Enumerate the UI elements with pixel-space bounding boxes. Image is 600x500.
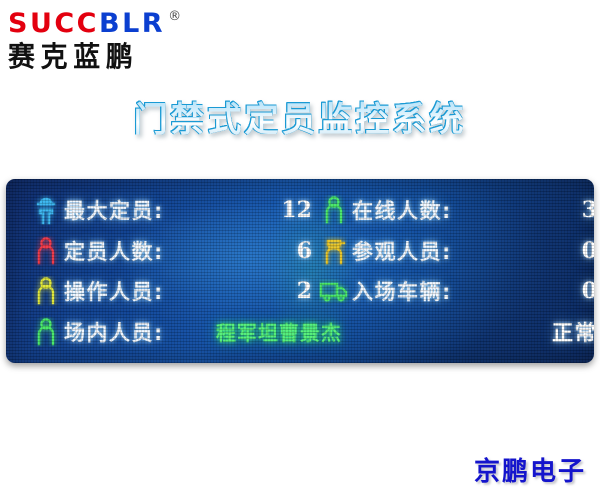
value-text: 3 <box>552 197 594 223</box>
person-hardhat-icon <box>28 190 64 231</box>
value-text: 12 <box>260 197 316 223</box>
status-text: 正常 <box>552 317 594 347</box>
person-cap-icon <box>316 231 352 272</box>
row-value-assigned-count: 6 <box>260 231 316 272</box>
brand-latin-blue: BLR <box>99 8 165 39</box>
value-text: 6 <box>260 238 316 264</box>
row-label-online-count: 在线人数: <box>352 190 552 231</box>
value-text: 0 <box>552 238 594 264</box>
person-icon <box>28 231 64 272</box>
person-icon <box>28 312 64 353</box>
row-occupants: 场内人员: 程军坦 曹景杰 <box>64 312 552 353</box>
label-text: 定员人数: <box>64 236 164 266</box>
row-value-vehicle-count: 0 <box>552 271 594 312</box>
row-value-operator-count: 2 <box>260 271 316 312</box>
brand-latin-wordmark: SUCCBLR® <box>8 4 228 39</box>
registered-trademark-icon: ® <box>168 9 181 24</box>
truck-icon <box>316 271 352 312</box>
row-label-max-capacity: 最大定员: <box>64 190 260 231</box>
status-badge: 正常 <box>552 312 594 353</box>
row-label-assigned-count: 定员人数: <box>64 231 260 272</box>
person-icon <box>28 271 64 312</box>
value-text: 0 <box>552 278 594 304</box>
row-label-operator-count: 操作人员: <box>64 271 260 312</box>
label-text: 场内人员: <box>64 317 164 347</box>
occupant-name-2: 曹景杰 <box>279 317 342 346</box>
brand-chinese-name: 赛克蓝鹏 <box>8 41 219 73</box>
label-text: 在线人数: <box>352 195 452 225</box>
row-label-visitor-count: 参观人员: <box>352 231 552 272</box>
led-content-grid: 最大定员: 12 在线人数: 3 <box>28 190 576 352</box>
row-value-max-capacity: 12 <box>260 190 316 231</box>
brand-latin-red: SUCC <box>8 8 99 39</box>
person-icon <box>316 190 352 231</box>
row-value-visitor-count: 0 <box>552 231 594 272</box>
row-label-vehicle-count: 入场车辆: <box>352 271 552 312</box>
footer-company-name: 京鹏电子 <box>474 451 586 488</box>
row-value-online-count: 3 <box>552 190 594 231</box>
value-text: 2 <box>260 278 316 304</box>
label-text: 参观人员: <box>352 236 452 266</box>
label-text: 入场车辆: <box>352 276 452 306</box>
brand-logo: SUCCBLR® 赛克蓝鹏 <box>8 4 228 70</box>
label-text: 最大定员: <box>64 195 164 225</box>
label-text: 操作人员: <box>64 276 164 306</box>
page-title: 门禁式定员监控系统 <box>0 92 600 141</box>
led-display-panel: 最大定员: 12 在线人数: 3 <box>6 179 594 363</box>
occupant-name-1: 程军坦 <box>216 317 279 346</box>
